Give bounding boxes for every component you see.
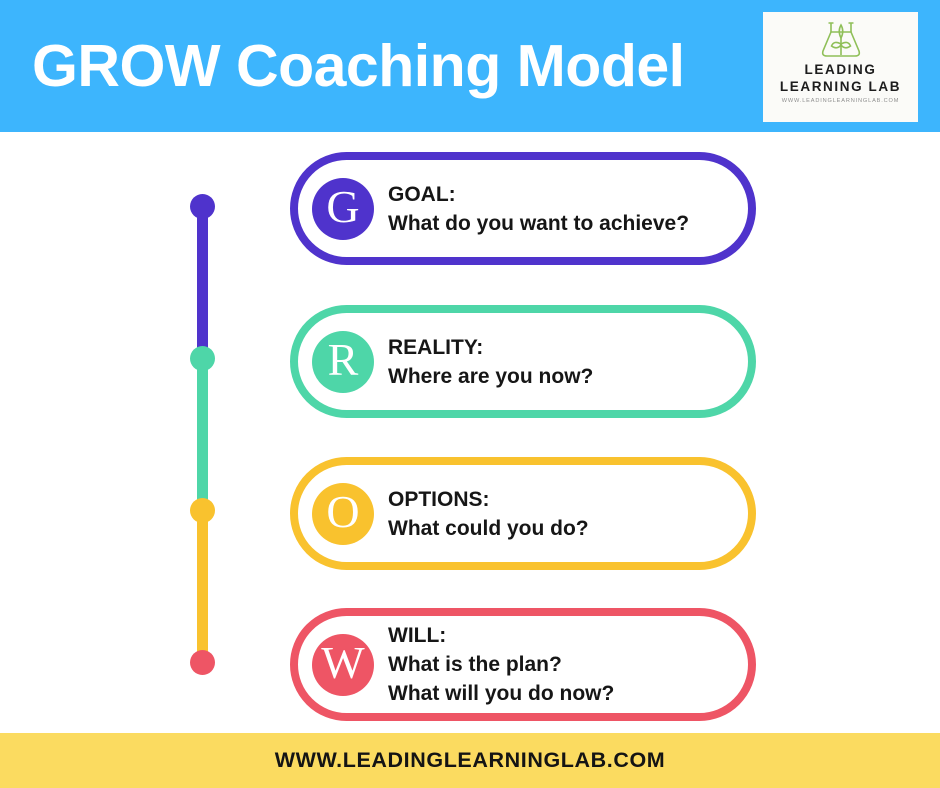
timeline-dot-options <box>190 498 215 523</box>
step-question-options-0: What could you do? <box>388 514 748 543</box>
step-badge-reality: R <box>312 331 374 393</box>
step-card-goal[interactable]: G GOAL: What do you want to achieve? <box>290 152 756 265</box>
timeline-segment-options-will <box>197 510 208 664</box>
timeline-dot-reality <box>190 346 215 371</box>
step-question-reality-0: Where are you now? <box>388 362 748 391</box>
timeline-segment-goal-reality <box>197 206 208 360</box>
logo-line-2: LEARNING LAB <box>780 78 901 95</box>
step-title-goal: GOAL: <box>388 180 748 209</box>
step-card-reality[interactable]: R REALITY: Where are you now? <box>290 305 756 418</box>
timeline-segment-reality-options <box>197 358 208 512</box>
logo-line-1: LEADING <box>805 61 877 78</box>
plant-flask-icon <box>818 19 864 61</box>
page-title: GROW Coaching Model <box>32 30 685 102</box>
step-title-options: OPTIONS: <box>388 485 748 514</box>
step-card-will[interactable]: W WILL: What is the plan? What will you … <box>290 608 756 721</box>
step-badge-goal: G <box>312 178 374 240</box>
timeline-dot-goal <box>190 194 215 219</box>
step-question-will-1: What will you do now? <box>388 679 748 708</box>
step-question-goal-0: What do you want to achieve? <box>388 209 748 238</box>
step-card-options[interactable]: O OPTIONS: What could you do? <box>290 457 756 570</box>
step-text-goal: GOAL: What do you want to achieve? <box>388 180 748 238</box>
step-text-will: WILL: What is the plan? What will you do… <box>388 621 748 708</box>
timeline-dot-will <box>190 650 215 675</box>
brand-logo: LEADING LEARNING LAB WWW.LEADINGLEARNING… <box>763 12 918 122</box>
infographic-canvas: GROW Coaching Model LEADING LEARNING LAB… <box>0 0 940 788</box>
footer-website: WWW.LEADINGLEARNINGLAB.COM <box>275 748 666 773</box>
step-badge-options: O <box>312 483 374 545</box>
footer-bar: WWW.LEADINGLEARNINGLAB.COM <box>0 733 940 788</box>
step-text-options: OPTIONS: What could you do? <box>388 485 748 543</box>
logo-url: WWW.LEADINGLEARNINGLAB.COM <box>782 98 900 104</box>
timeline-rail <box>181 150 225 690</box>
step-question-will-0: What is the plan? <box>388 650 748 679</box>
step-title-reality: REALITY: <box>388 333 748 362</box>
step-text-reality: REALITY: Where are you now? <box>388 333 748 391</box>
step-badge-will: W <box>312 634 374 696</box>
step-title-will: WILL: <box>388 621 748 650</box>
